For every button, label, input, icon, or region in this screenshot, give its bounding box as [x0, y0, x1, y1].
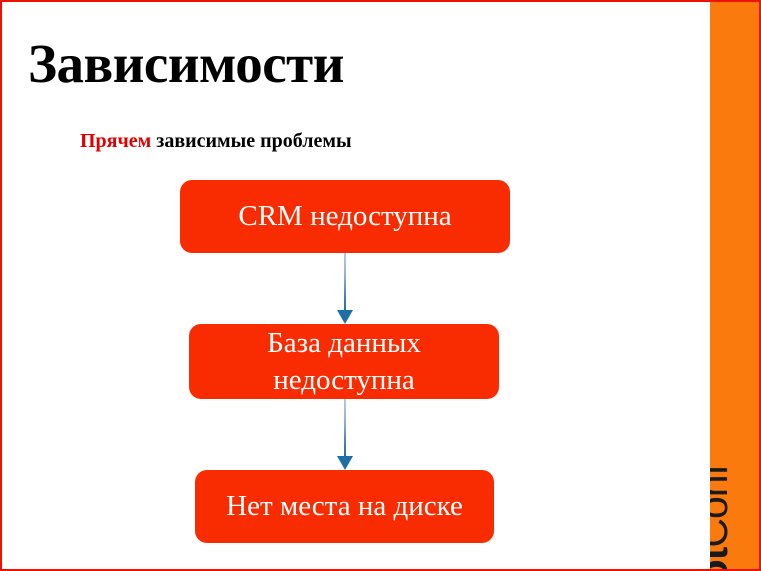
slide-content-area: Зависимости Прячем зависимые проблемы CR…: [2, 2, 710, 571]
page-title: Зависимости: [28, 32, 344, 96]
connector-arrow-database-to-disk: [334, 399, 356, 470]
flow-box-label: Нет места на диске: [205, 488, 484, 525]
subtitle: Прячем зависимые проблемы: [80, 128, 352, 154]
subtitle-rest: зависимые проблемы: [151, 130, 351, 152]
logo-conf-text: Conf: [710, 465, 736, 548]
flow-box-label: База данных недоступна: [199, 325, 489, 399]
flow-box-crm-unavailable[interactable]: CRM недоступна: [180, 180, 510, 253]
connector-arrow-crm-to-database: [334, 253, 356, 324]
connector-stem: [344, 253, 346, 311]
slide-canvas: Зависимости Прячем зависимые проблемы CR…: [0, 0, 761, 571]
subtitle-accent-word: Прячем: [80, 130, 151, 152]
logo-root-text: Root: [710, 548, 736, 571]
brand-sidebar: RootConf: [710, 2, 759, 571]
flow-box-database-unavailable[interactable]: База данных недоступна: [189, 324, 499, 399]
flow-box-no-disk-space[interactable]: Нет места на диске: [195, 470, 494, 543]
down-arrow-icon: [337, 310, 353, 324]
flow-box-label: CRM недоступна: [190, 198, 500, 235]
down-arrow-icon: [337, 456, 353, 470]
connector-stem: [344, 399, 346, 457]
rootconf-logo: RootConf: [710, 465, 735, 571]
